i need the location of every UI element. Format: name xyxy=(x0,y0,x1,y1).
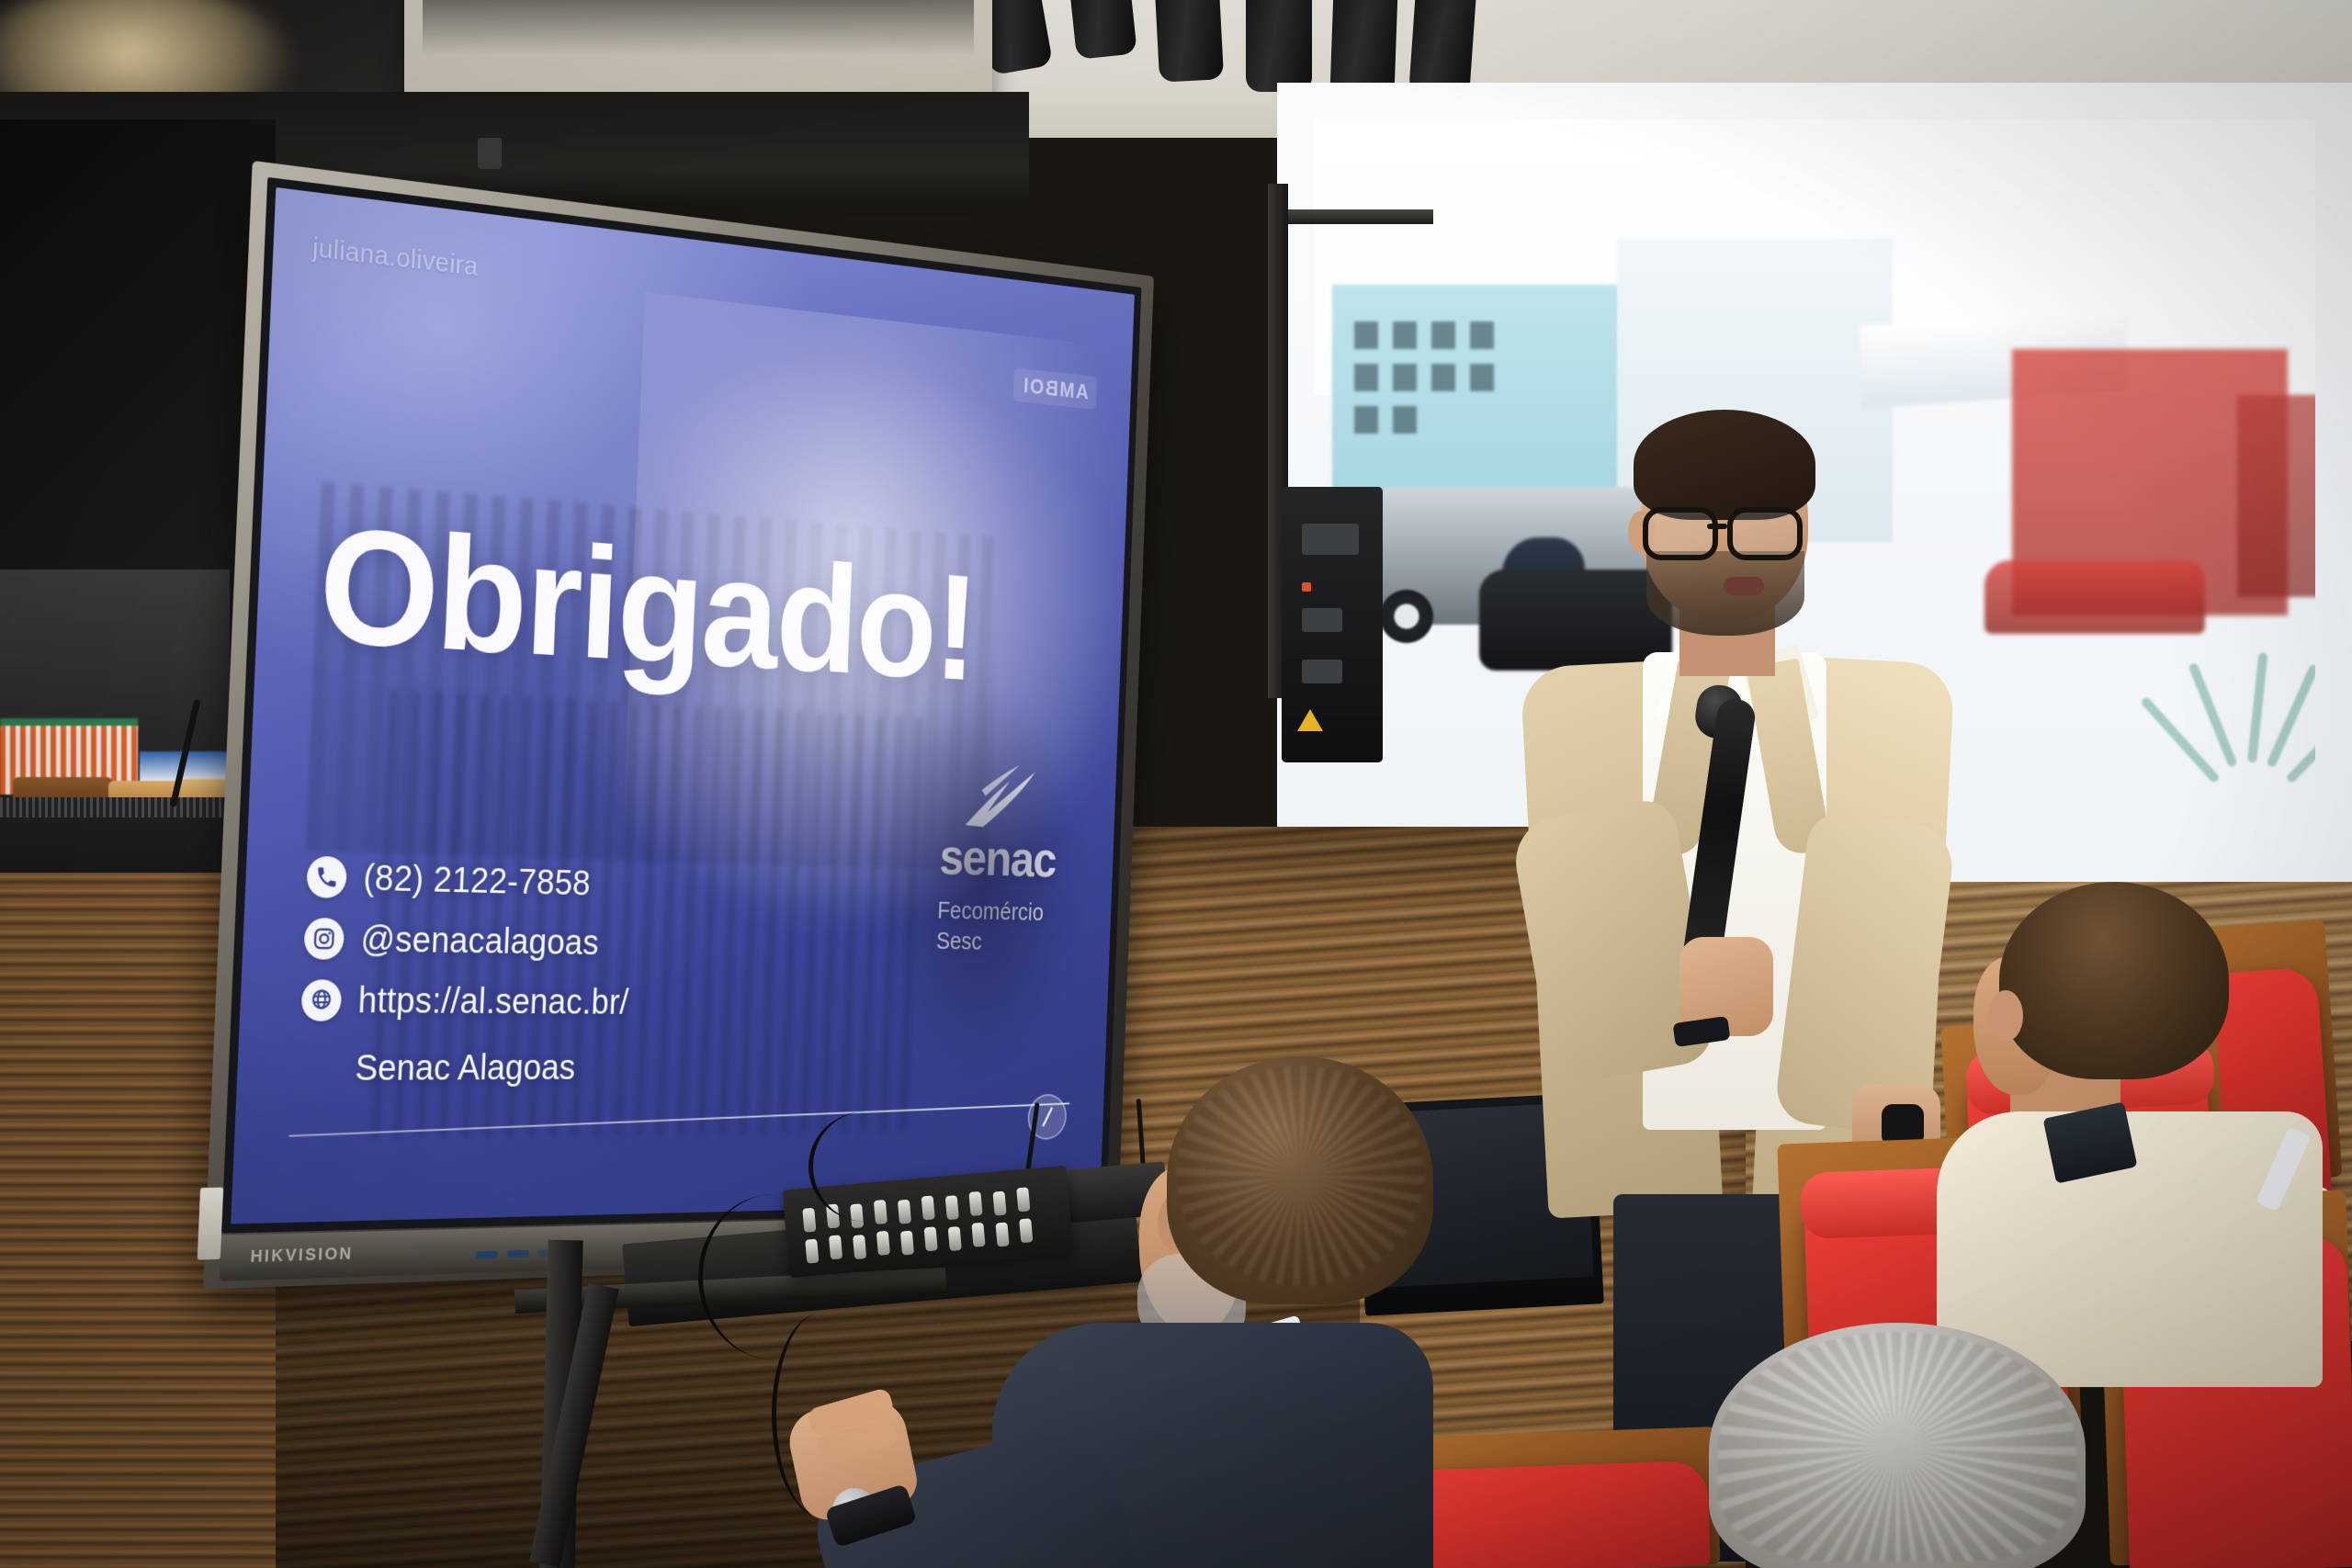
contact-instagram-label: @senacalagoas xyxy=(360,919,600,964)
attendee-hair-texture xyxy=(1176,1066,1424,1286)
contact-row-instagram: @senacalagoas xyxy=(303,918,632,964)
contact-website-label: https://al.senac.br/ xyxy=(357,981,629,1022)
display-ports xyxy=(476,1249,559,1258)
slide-contact-list: (82) 2122-7858 @senacalagoas xyxy=(298,856,635,1089)
attendee-foreground xyxy=(772,1056,1433,1568)
attendee-hair-texture xyxy=(1718,1332,2076,1562)
display-side-tab xyxy=(198,1188,224,1260)
display-mount-arm xyxy=(1268,209,1433,224)
attendee-front-row xyxy=(1599,1323,2187,1568)
contact-row-phone: (82) 2122-7858 xyxy=(306,856,635,905)
ceiling-spotlight-icon xyxy=(1068,0,1137,60)
contact-row-website: https://al.senac.br/ xyxy=(300,980,629,1023)
screen-glare xyxy=(618,292,1135,947)
globe-www-icon xyxy=(300,980,342,1022)
ceiling-camera-icon xyxy=(478,138,502,169)
red-car xyxy=(1984,560,2205,634)
contact-phone-label: (82) 2122-7858 xyxy=(362,858,591,904)
ceiling-spotlight-icon xyxy=(1154,0,1224,83)
case-grill-shelf xyxy=(0,797,230,818)
warning-triangle-icon xyxy=(1297,709,1323,731)
presenter-mouth xyxy=(1724,577,1764,595)
attendee-ear xyxy=(1988,990,2023,1042)
presenter-hair xyxy=(1634,410,1815,520)
slide-org-line: Senac Alagoas xyxy=(355,1049,628,1089)
slide-user-tag: juliana.oliveira xyxy=(311,233,479,283)
attendee-hair xyxy=(1999,882,2229,1079)
hood-shadow xyxy=(423,0,974,55)
presenter-beard xyxy=(1646,551,1804,636)
presentation-room-scene: juliana.oliveira AMBOI Obrigado! (82) 21… xyxy=(0,0,2352,1568)
suv-wheel xyxy=(1380,590,1433,643)
ceiling-spotlight-icon xyxy=(1246,0,1312,92)
attendee-right xyxy=(1911,882,2352,1341)
red-storefront-2 xyxy=(2237,395,2315,597)
instagram-icon xyxy=(303,918,345,960)
outdoor-plant xyxy=(2196,597,2315,772)
phone-icon xyxy=(306,856,347,898)
display-brand-label: HIKVISION xyxy=(250,1245,354,1268)
eyeglasses-icon xyxy=(1643,507,1814,551)
